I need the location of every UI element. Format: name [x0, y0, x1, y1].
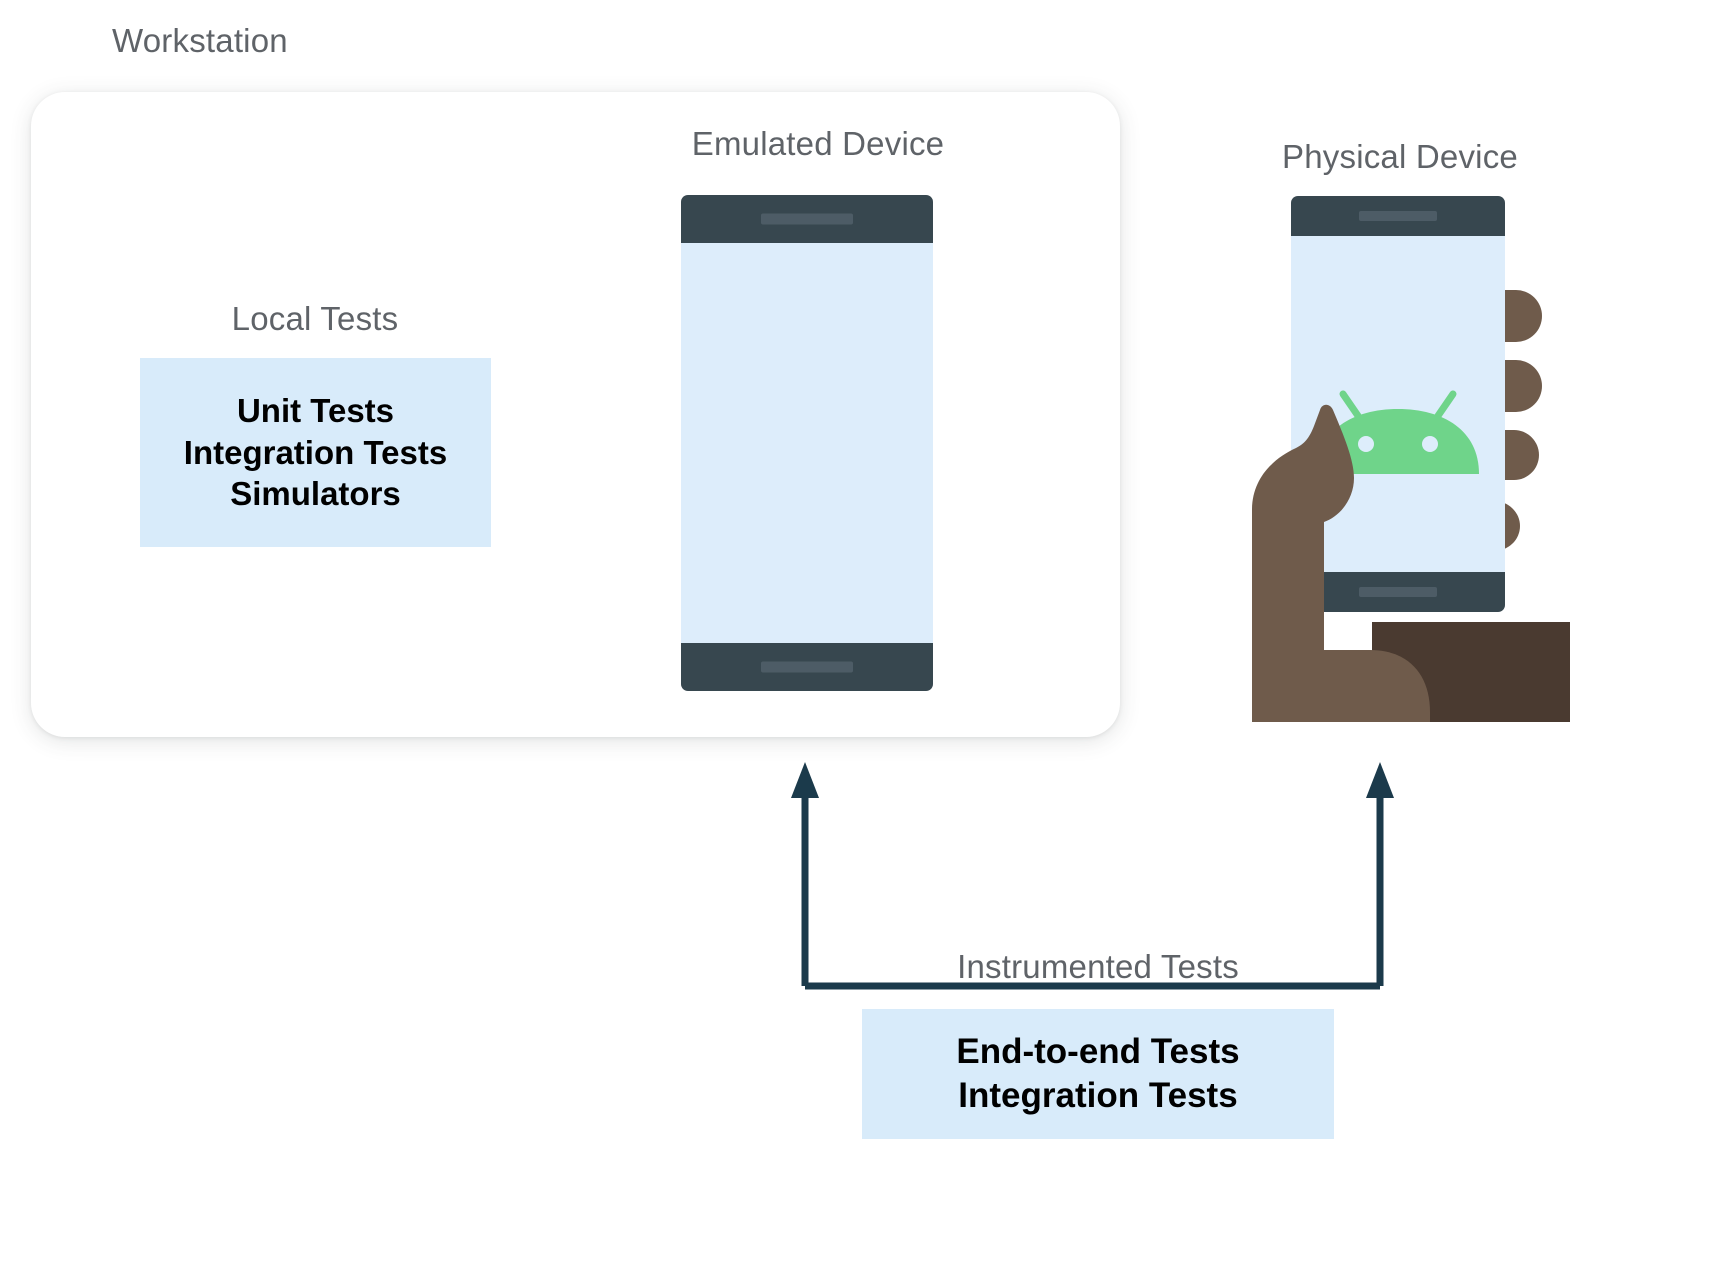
local-tests-item: Simulators — [230, 473, 401, 515]
phone-home-bar-icon — [761, 662, 853, 673]
phone-screen — [681, 243, 933, 643]
hand-icon — [1252, 650, 1430, 722]
hand-graphic — [1240, 270, 1570, 722]
phone-speaker-icon — [761, 214, 853, 225]
emulated-device-phone — [681, 195, 933, 691]
instrumented-tests-item: Integration Tests — [958, 1074, 1237, 1118]
phone-top-bezel — [1291, 196, 1505, 236]
instrumented-tests-item: End-to-end Tests — [956, 1030, 1239, 1074]
emulated-device-label: Emulated Device — [692, 125, 944, 163]
phone-top-bezel — [681, 195, 933, 243]
phone-speaker-icon — [1359, 211, 1437, 221]
instrumented-tests-label: Instrumented Tests — [957, 948, 1239, 986]
local-tests-item: Unit Tests — [237, 390, 394, 432]
workstation-label: Workstation — [112, 22, 288, 60]
arrow-head-left-icon — [791, 762, 819, 798]
local-tests-item: Integration Tests — [184, 432, 447, 474]
diagram-canvas: Workstation Local Tests Unit Tests Integ… — [0, 0, 1726, 1286]
physical-device-label: Physical Device — [1282, 138, 1518, 176]
local-tests-chip: Unit Tests Integration Tests Simulators — [140, 358, 491, 547]
phone-bottom-bezel — [681, 643, 933, 691]
instrumented-tests-chip: End-to-end Tests Integration Tests — [862, 1009, 1334, 1139]
local-tests-label: Local Tests — [232, 300, 399, 338]
arrow-head-right-icon — [1366, 762, 1394, 798]
